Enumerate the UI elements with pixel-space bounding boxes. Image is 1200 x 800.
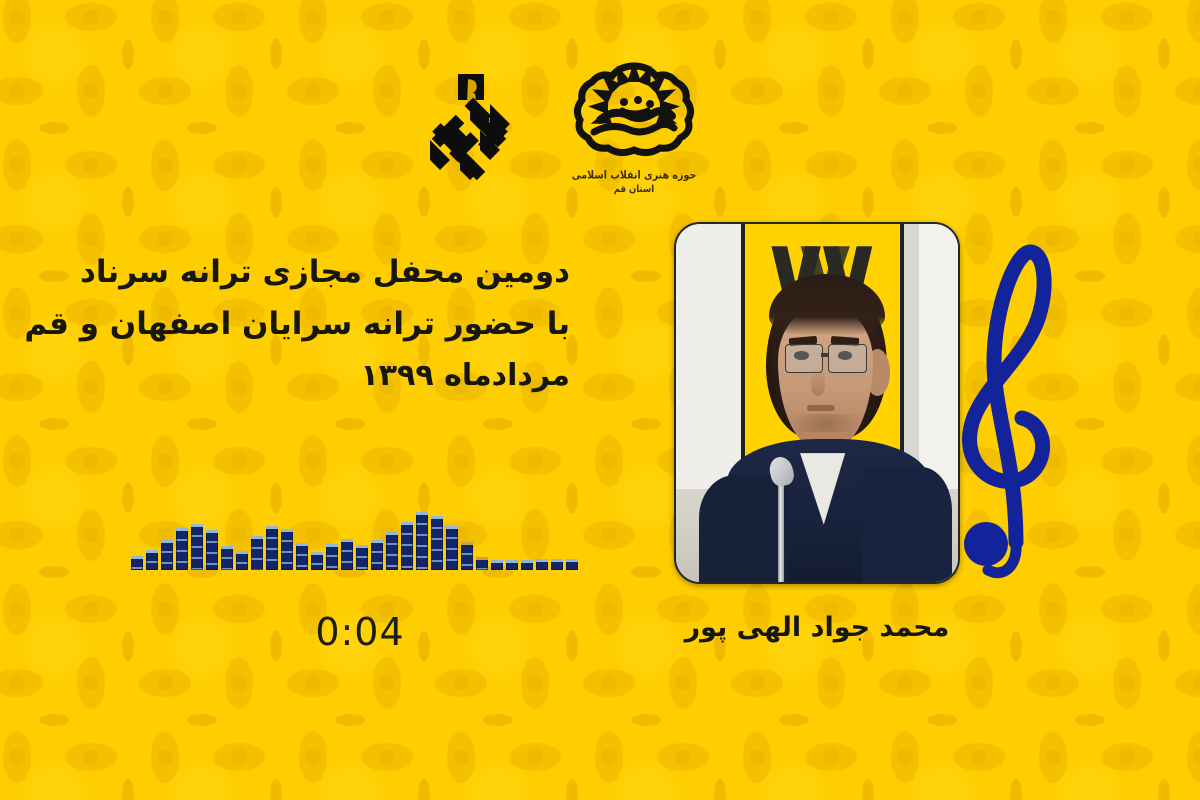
hozeh-honari-subtitle: حوزه هنری انقلاب اسلامی استان قم <box>564 168 704 198</box>
waveform-bar <box>296 543 308 570</box>
waveform-bar <box>476 557 488 570</box>
headline-line-2: با حضور ترانه سرایان اصفهان و قم <box>110 298 570 350</box>
treble-clef-icon <box>944 212 1074 592</box>
waveform-bar <box>131 556 143 570</box>
waveform-bar <box>311 552 323 570</box>
logo-row: حوزه هنری انقلاب اسلامی استان قم <box>404 56 724 236</box>
waveform-bar <box>371 540 383 570</box>
poster-canvas: حوزه هنری انقلاب اسلامی استان قم دومین م… <box>0 0 1200 800</box>
waveform-bar <box>491 560 503 570</box>
playback-timestamp: 0:04 <box>300 610 420 654</box>
speaker-photo <box>674 222 960 584</box>
waveform-bar <box>176 528 188 570</box>
waveform-bar <box>506 560 518 570</box>
eyeglasses-icon <box>828 344 867 373</box>
headline-line-3: مردادماه ۱۳۹۹ <box>110 350 570 402</box>
headline-line-1: دومین محفل مجازی ترانه سرناد <box>110 246 570 298</box>
headline-block: دومین محفل مجازی ترانه سرناد با حضور ترا… <box>110 246 570 402</box>
waveform-bar <box>536 559 548 570</box>
sarnad-kufic-logo <box>418 74 522 184</box>
waveform-bar <box>416 512 428 570</box>
waveform-bar <box>236 551 248 570</box>
waveform-bar <box>341 539 353 570</box>
microphone-icon <box>778 475 785 582</box>
waveform-bar <box>431 516 443 570</box>
waveform-bar <box>566 559 578 570</box>
waveform-bar <box>281 529 293 570</box>
waveform-bar <box>161 540 173 570</box>
speaker-name: محمد جواد الهی پور <box>676 612 958 643</box>
waveform-bar <box>521 560 533 570</box>
waveform-bar <box>446 526 458 570</box>
waveform-bar <box>251 536 263 570</box>
hozeh-honari-logo: حوزه هنری انقلاب اسلامی استان قم <box>564 58 704 230</box>
waveform-bar <box>191 524 203 570</box>
waveform-bar <box>221 546 233 570</box>
waveform-bar <box>146 550 158 570</box>
waveform-bar <box>401 522 413 570</box>
waveform-bar <box>266 526 278 570</box>
waveform-bar <box>461 542 473 570</box>
waveform-bar <box>386 532 398 570</box>
waveform-bar <box>206 530 218 570</box>
waveform-bar <box>551 559 563 570</box>
waveform-bar <box>356 545 368 570</box>
audio-waveform[interactable] <box>131 500 591 570</box>
waveform-bar <box>326 544 338 570</box>
hozeh-honari-subtitle-line1: حوزه هنری انقلاب اسلامی <box>564 168 704 183</box>
hozeh-honari-subtitle-line2: استان قم <box>564 183 704 198</box>
